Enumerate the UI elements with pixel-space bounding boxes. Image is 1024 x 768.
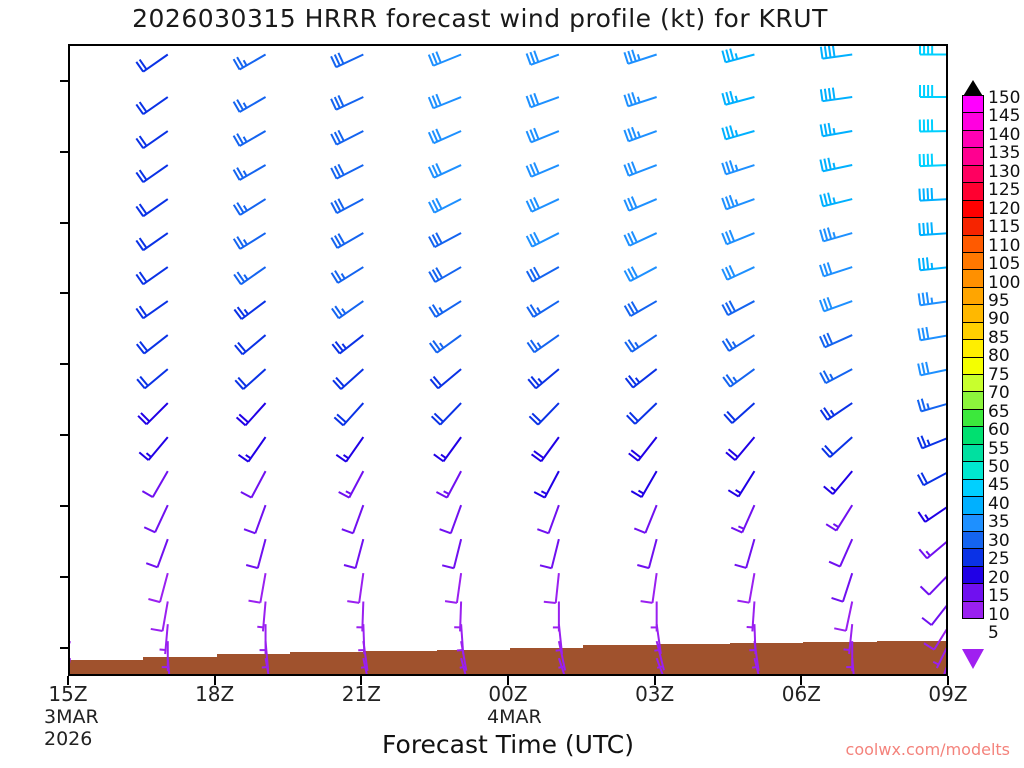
colorbar-tick-label: 145 [988, 106, 1020, 126]
wind-barb [722, 160, 754, 174]
colorbar-tick-label: 135 [988, 143, 1020, 163]
colorbar-segment [962, 147, 984, 165]
colorbar-tick-label: 100 [988, 273, 1020, 293]
colorbar-segment [962, 182, 984, 200]
colorbar-tick-label: 85 [988, 328, 1010, 348]
colorbar-tick-label: 45 [988, 475, 1010, 495]
wind-barb [234, 267, 265, 284]
wind-barb [429, 94, 461, 108]
colorbar-tick-label: 40 [988, 494, 1010, 514]
wind-barb [356, 601, 363, 631]
colorbar-bottom-arrow-icon [962, 649, 984, 669]
colorbar-segment [962, 287, 984, 305]
wind-barb [752, 641, 759, 671]
wind-barb [722, 195, 754, 209]
x-axis-date-start-day: 3MAR [44, 706, 99, 728]
wind-barb [820, 228, 852, 242]
wind-barb [641, 573, 657, 603]
colorbar-segment [962, 391, 984, 409]
page-title: 2026030315 HRRR forecast wind profile (k… [0, 4, 960, 33]
wind-barb [136, 131, 167, 148]
wind-barb [527, 51, 559, 65]
wind-barb [136, 97, 167, 114]
wind-barb [918, 436, 948, 449]
wind-barb [631, 471, 656, 497]
wind-barb [540, 539, 559, 568]
wind-barb [924, 624, 948, 649]
wind-barb [624, 50, 656, 64]
wind-barb [234, 233, 266, 249]
wind-barb [146, 539, 168, 567]
colorbar-segment [962, 531, 984, 549]
wind-barb [162, 641, 168, 671]
wind-barb [136, 267, 167, 284]
wind-barb [624, 197, 656, 211]
colorbar-tick-label: 25 [988, 549, 1010, 569]
wind-barb [922, 601, 948, 625]
wind-barb [429, 129, 461, 143]
colorbar-segment [962, 322, 984, 340]
colorbar-segment [962, 357, 984, 375]
wind-barb [821, 403, 853, 420]
wind-barb [331, 95, 363, 109]
colorbar-tick-label: 80 [988, 346, 1010, 366]
wind-barb [722, 49, 754, 63]
wind-barb [820, 297, 852, 311]
colorbar-segment [962, 235, 984, 253]
colorbar-segment [962, 374, 984, 392]
wind-barb [234, 165, 266, 180]
wind-barb [434, 437, 461, 461]
wind-barb [637, 539, 656, 568]
wind-barb [919, 222, 948, 235]
colorbar-segment [962, 548, 984, 566]
wind-barb [918, 362, 948, 375]
colorbar-segment [962, 200, 984, 218]
wind-barb [137, 369, 168, 388]
colorbar-tick-label: 70 [988, 383, 1010, 403]
wind-barb [344, 539, 363, 568]
wind-barb [624, 162, 656, 176]
wind-barb [627, 403, 657, 424]
wind-barb [625, 301, 657, 316]
colorbar-tick-label: 125 [988, 180, 1020, 200]
wind-barb [331, 199, 363, 213]
x-axis-date-start-year: 2026 [44, 728, 92, 750]
wind-barb [234, 131, 266, 146]
wind-barb [234, 55, 266, 70]
wind-barb [333, 369, 363, 389]
wind-barb [336, 437, 363, 462]
wind-barb [933, 641, 948, 668]
colorbar-tick-label: 95 [988, 291, 1010, 311]
x-axis-title: Forecast Time (UTC) [68, 730, 948, 759]
wind-barb [234, 301, 265, 319]
x-axis-tick-label: 15Z [48, 682, 87, 706]
wind-barb [731, 505, 754, 532]
wind-barb [625, 335, 657, 352]
wind-barb [347, 573, 363, 603]
wind-barb [136, 199, 167, 216]
x-axis-date-next-day: 4MAR [487, 706, 542, 728]
wind-barb [821, 123, 853, 136]
colorbar-segment [962, 339, 984, 357]
wind-barb [534, 471, 559, 497]
colorbar-segment [962, 479, 984, 497]
wind-barb [820, 333, 852, 347]
wind-barb [454, 601, 461, 631]
x-axis-tick-label: 03Z [635, 682, 674, 706]
wind-barb [832, 573, 853, 602]
colorbar-tick-label: 130 [988, 162, 1020, 182]
wind-barb [429, 301, 461, 317]
wind-barb [136, 233, 167, 250]
wind-barb [820, 158, 852, 171]
wind-barb [919, 188, 948, 201]
wind-barb [624, 127, 656, 141]
colorbar-tick-label: 75 [988, 365, 1010, 385]
wind-barb [626, 369, 657, 387]
colorbar [962, 96, 984, 619]
wind-barb [821, 88, 852, 102]
wind-barb [527, 335, 558, 352]
colorbar-tick-label: 10 [988, 605, 1010, 625]
wind-barb [527, 128, 559, 142]
wind-barb [822, 437, 852, 457]
wind-barb [821, 46, 852, 59]
wind-barb [445, 573, 461, 603]
colorbar-segment [962, 583, 984, 601]
wind-barb [722, 265, 754, 279]
colorbar-segment [962, 217, 984, 235]
colorbar-segment [962, 304, 984, 322]
wind-barb [722, 301, 754, 315]
wind-barb [430, 369, 461, 388]
wind-barb [722, 230, 754, 244]
colorbar-segment [962, 95, 984, 113]
wind-barb [735, 539, 755, 568]
wind-barb [826, 505, 852, 530]
wind-barb [919, 539, 948, 558]
wind-barb [432, 403, 461, 425]
colorbar-segment [962, 269, 984, 287]
wind-barb [722, 126, 754, 140]
wind-barb [722, 91, 754, 105]
wind-barb [358, 624, 364, 654]
wind-barb [442, 539, 461, 568]
wind-barb [624, 231, 656, 245]
wind-barb [919, 292, 948, 305]
wind-barb [334, 403, 363, 425]
plot-area [68, 44, 948, 676]
colorbar-segment [962, 252, 984, 270]
wind-barb [136, 165, 167, 182]
colorbar-segment [962, 444, 984, 462]
colorbar-tick-label: 30 [988, 531, 1010, 551]
wind-barb [331, 130, 363, 144]
x-axis-tick-label: 06Z [782, 682, 821, 706]
wind-barb [634, 505, 656, 533]
wind-barb [257, 601, 265, 631]
colorbar-tick-label: 50 [988, 457, 1010, 477]
wind-barb [528, 369, 559, 388]
wind-barb [920, 85, 948, 97]
colorbar-tick-label: 140 [988, 125, 1020, 145]
wind-barb [241, 471, 266, 497]
wind-barb [148, 573, 167, 602]
wind-barb [527, 197, 559, 211]
colorbar-segment [962, 566, 984, 584]
wind-barb [331, 164, 363, 178]
wind-barb [532, 437, 559, 461]
wind-barb [920, 46, 948, 55]
wind-barb [544, 573, 559, 603]
wind-barb [820, 193, 852, 207]
wind-barb [918, 327, 948, 340]
wind-barb [654, 624, 661, 654]
wind-barb [920, 119, 948, 131]
wind-barb [430, 335, 461, 353]
wind-barb [332, 335, 363, 353]
wind-barb [429, 163, 461, 177]
wind-barb [919, 257, 948, 270]
wind-barb [235, 335, 266, 354]
wind-barb [235, 369, 265, 389]
wind-barb [723, 369, 754, 387]
wind-barb [339, 471, 364, 497]
colorbar-tick-label: 120 [988, 199, 1020, 219]
wind-barb [527, 301, 559, 317]
wind-barb [136, 301, 167, 318]
wind-barb [527, 93, 559, 107]
wind-barb [920, 154, 948, 166]
x-axis-tick-label: 21Z [342, 682, 381, 706]
wind-barb [625, 267, 657, 281]
wind-barb [429, 267, 461, 282]
wind-barb [136, 55, 167, 72]
wind-barb [246, 539, 265, 568]
wind-barb [824, 471, 852, 494]
wind-barb [244, 505, 266, 533]
wind-barb [234, 97, 266, 112]
wind-barb [139, 437, 167, 460]
wind-barb [137, 335, 168, 353]
wind-barb [440, 505, 462, 533]
wind-barb [537, 505, 559, 533]
wind-barb [144, 505, 168, 532]
wind-barb [239, 437, 266, 462]
wind-barb-field [70, 46, 948, 676]
wind-barb [737, 573, 754, 603]
wind-barb [629, 437, 657, 461]
colorbar-segment [962, 514, 984, 532]
colorbar-segment [962, 409, 984, 427]
wind-barb [234, 199, 266, 215]
colorbar-segment [962, 601, 984, 619]
wind-barb [834, 601, 852, 630]
wind-barb [918, 471, 948, 485]
colorbar-tick-label: 15 [988, 586, 1010, 606]
wind-barb [918, 505, 948, 522]
colorbar-tick-label: 150 [988, 88, 1020, 108]
wind-barb [529, 403, 558, 425]
colorbar-segment [962, 426, 984, 444]
colorbar-segment [962, 461, 984, 479]
wind-barb [728, 471, 754, 496]
wind-barb [527, 232, 559, 246]
colorbar-tick-label: 60 [988, 420, 1010, 440]
wind-barb [820, 262, 852, 276]
colorbar-tick-label: 20 [988, 568, 1010, 588]
wind-barb [747, 601, 755, 631]
wind-barb [429, 198, 461, 212]
colorbar-tick-label: 115 [988, 217, 1020, 237]
colorbar-tick-label: 105 [988, 254, 1020, 274]
wind-barb [342, 505, 364, 533]
wind-barb [436, 471, 461, 497]
colorbar-segment [962, 112, 984, 130]
wind-barb [429, 233, 461, 247]
watermark: coolwx.com/modelts [846, 740, 1010, 759]
colorbar-tick-label: 35 [988, 512, 1010, 532]
x-axis-tick-label: 18Z [195, 682, 234, 706]
wind-barb [820, 369, 852, 383]
x-axis-tick-label: 00Z [488, 682, 527, 706]
wind-barb [142, 471, 167, 497]
wind-barb [249, 573, 266, 603]
wind-barb [726, 437, 754, 460]
colorbar-tick-label: 90 [988, 309, 1010, 329]
wind-barb [138, 403, 168, 424]
colorbar-tick-label: 55 [988, 439, 1010, 459]
wind-barb [429, 52, 461, 66]
wind-barb [331, 233, 363, 248]
wind-barb [918, 399, 948, 412]
wind-barb [829, 539, 852, 566]
wind-barb [553, 601, 559, 631]
x-axis-tick-label: 09Z [928, 682, 967, 706]
wind-barb [331, 53, 363, 67]
colorbar-tick-label: 65 [988, 402, 1010, 422]
colorbar-segment [962, 165, 984, 183]
wind-barb [151, 601, 168, 631]
wind-barb [332, 267, 364, 283]
wind-barb [624, 92, 656, 106]
wind-barb [844, 624, 853, 654]
wind-barb [724, 403, 754, 423]
colorbar-tick-label: 110 [988, 236, 1020, 256]
colorbar-segment [962, 496, 984, 514]
colorbar-segment [962, 130, 984, 148]
wind-barb [651, 601, 657, 631]
wind-barb [237, 403, 266, 425]
wind-barb [723, 335, 755, 351]
wind-barb [527, 267, 559, 282]
colorbar-tick-label: 5 [988, 623, 999, 643]
wind-barb [332, 301, 363, 318]
wind-barb [527, 163, 559, 177]
wind-barb [921, 573, 948, 595]
